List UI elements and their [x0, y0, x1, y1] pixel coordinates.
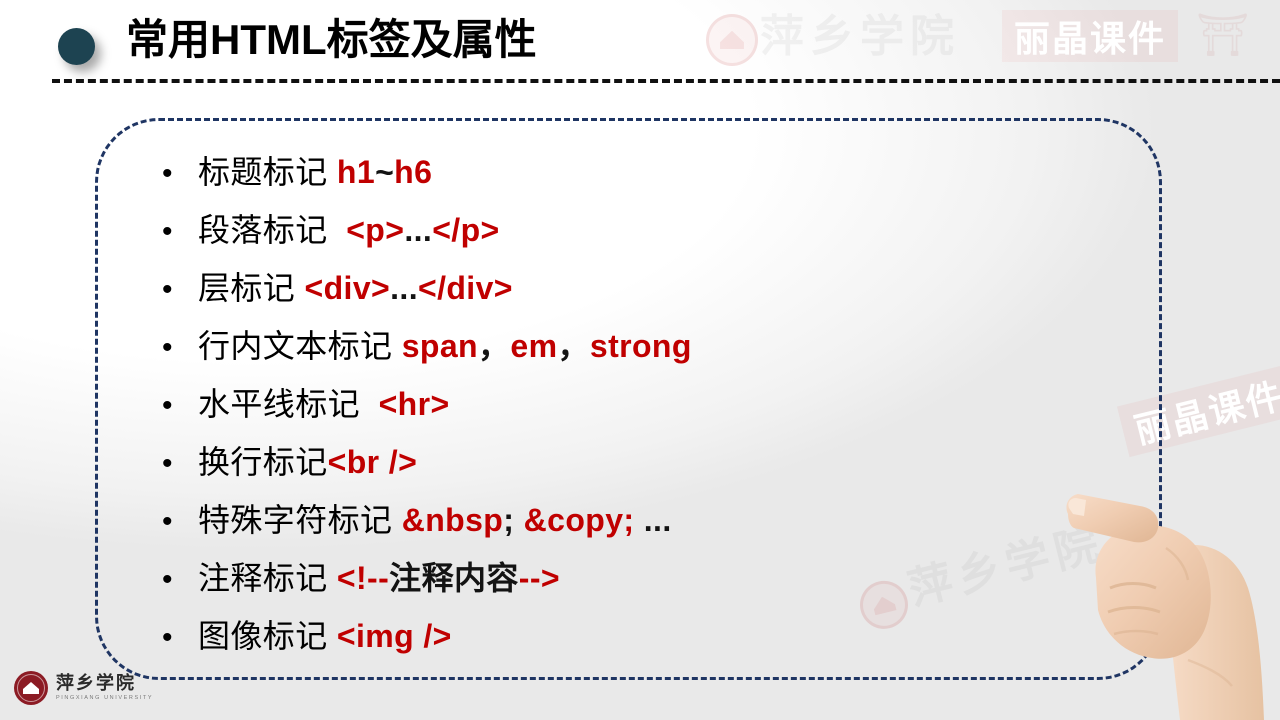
- text-segment-code: strong: [590, 328, 692, 364]
- list-item: •注释标记 <!--注释内容-->: [152, 549, 1112, 607]
- slide-header: 常用HTML标签及属性: [0, 0, 1280, 96]
- text-segment-code: h6: [394, 154, 432, 190]
- text-segment-plain: ...: [634, 502, 671, 538]
- list-item-text: 标题标记 h1~h6: [198, 143, 432, 201]
- list-item: •图像标记 <img />: [152, 607, 1112, 665]
- list-bullet-icon: •: [152, 261, 198, 319]
- list-item-text: 图像标记 <img />: [198, 607, 452, 665]
- list-item-text: 行内文本标记 span，em，strong: [198, 317, 692, 375]
- text-segment-cn: 层标记: [198, 270, 305, 306]
- list-bullet-icon: •: [152, 609, 198, 667]
- text-segment-plain: ，: [478, 328, 510, 364]
- list-item: •换行标记<br />: [152, 433, 1112, 491]
- text-segment-code: &copy;: [524, 502, 635, 538]
- list-bullet-icon: •: [152, 377, 198, 435]
- text-segment-code: <img />: [337, 618, 452, 654]
- text-segment-plain: ，: [557, 328, 589, 364]
- title-bullet-circle-icon: [58, 28, 95, 65]
- text-segment-code: <!--: [337, 560, 389, 596]
- text-segment-plain: ;: [503, 502, 523, 538]
- text-segment-plain: ...: [404, 212, 432, 248]
- text-segment-plain: ...: [390, 270, 418, 306]
- list-item-text: 换行标记<br />: [198, 433, 417, 491]
- text-segment-plain: ~: [375, 154, 394, 190]
- text-segment-code: -->: [519, 560, 560, 596]
- slide-canvas: 萍乡学院 丽晶课件 ⛩ 萍乡学院 丽晶课件 ⛩ 常用HTML标签及属性 •标题标…: [0, 0, 1280, 720]
- text-segment-code: </p>: [432, 212, 499, 248]
- list-item: •行内文本标记 span，em，strong: [152, 317, 1112, 375]
- list-item: •特殊字符标记 &nbsp; &copy; ...: [152, 491, 1112, 549]
- list-item-text: 特殊字符标记 &nbsp; &copy; ...: [198, 491, 672, 549]
- institution-name-en: PINGXIANG UNIVERSITY: [56, 694, 153, 702]
- list-item: •层标记 <div>...</div>: [152, 259, 1112, 317]
- text-segment-cn: 图像标记: [198, 618, 337, 654]
- list-bullet-icon: •: [152, 145, 198, 203]
- text-segment-code: </div>: [418, 270, 513, 306]
- text-segment-code: <p>: [346, 212, 404, 248]
- text-segment-code: em: [510, 328, 557, 364]
- text-segment-cn: 注释标记: [198, 560, 337, 596]
- page-title: 常用HTML标签及属性: [126, 14, 537, 66]
- list-bullet-icon: •: [152, 435, 198, 493]
- text-segment-cn: 水平线标记: [198, 386, 369, 422]
- text-segment-code: h1: [337, 154, 375, 190]
- list-item: •水平线标记 <hr>: [152, 375, 1112, 433]
- html-tag-list: •标题标记 h1~h6•段落标记 <p>...</p>•层标记 <div>...…: [152, 143, 1112, 665]
- text-segment-code: span: [402, 328, 478, 364]
- list-item-text: 段落标记 <p>...</p>: [198, 201, 500, 259]
- list-item: •标题标记 h1~h6: [152, 143, 1112, 201]
- text-segment-cn: 行内文本标记: [198, 328, 402, 364]
- list-item-text: 层标记 <div>...</div>: [198, 259, 513, 317]
- text-segment-cn: 特殊字符标记: [198, 502, 402, 538]
- text-segment-plain: 注释内容: [389, 560, 519, 596]
- list-bullet-icon: •: [152, 493, 198, 551]
- list-item-text: 水平线标记 <hr>: [198, 375, 450, 433]
- text-segment-code: <div>: [305, 270, 391, 306]
- institution-logo-text: 萍乡学院 PINGXIANG UNIVERSITY: [56, 674, 153, 702]
- text-segment-cn: 标题标记: [198, 154, 337, 190]
- list-bullet-icon: •: [152, 203, 198, 261]
- text-segment-cn: 换行标记: [198, 444, 328, 480]
- list-bullet-icon: •: [152, 551, 198, 609]
- list-item: •段落标记 <p>...</p>: [152, 201, 1112, 259]
- list-item-text: 注释标记 <!--注释内容-->: [198, 549, 560, 607]
- institution-seal-icon: [14, 671, 48, 705]
- list-bullet-icon: •: [152, 319, 198, 377]
- text-segment-cn: 段落标记: [198, 212, 346, 248]
- header-divider: [52, 79, 1280, 83]
- pointing-hand-image: [1062, 428, 1280, 720]
- institution-logo: 萍乡学院 PINGXIANG UNIVERSITY: [14, 666, 174, 710]
- text-segment-code: <hr>: [369, 386, 449, 422]
- institution-name-cn: 萍乡学院: [56, 674, 153, 694]
- text-segment-code: <br />: [328, 444, 418, 480]
- text-segment-code: &nbsp: [402, 502, 504, 538]
